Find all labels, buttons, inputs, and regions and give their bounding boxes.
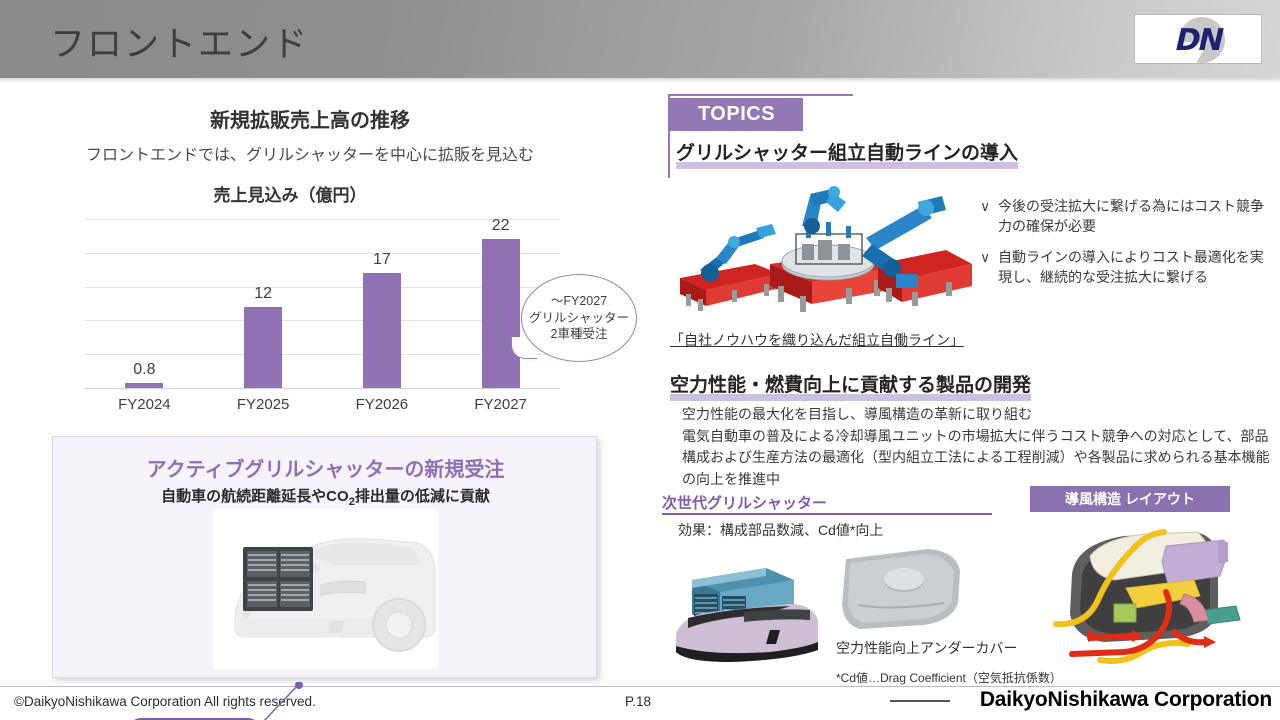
aero-body-text: 空力性能の最大化を目指し、導風構造の革新に取り組む 電気自動車の普及による冷却導… [682,404,1272,491]
chart-bar-value-label: 0.8 [104,361,184,379]
footer-page-number: P.18 [625,694,651,709]
layout-badge: 導風構造 レイアウト [1030,486,1230,512]
page-title: フロントエンド [50,16,309,67]
undercover-caption: 空力性能向上アンダーカバー [836,638,1017,658]
grille-shutter-part [243,547,313,611]
chart-callout-bubble: 〜FY2027 グリルシャッター 2車種受注 [521,274,637,362]
next-gen-shutter-image [670,546,825,666]
undercover-image [832,541,972,636]
callout-line-3: 2車種受注 [551,326,608,343]
chart-baseline [85,388,560,389]
slide-header: フロントエンド DN [0,0,1280,78]
chart-axis-title: 売上見込み（億円） [0,181,580,206]
chart-x-axis-labels: FY2024FY2025FY2026FY2027 [85,396,560,413]
section-heading-aero: 空力性能・燃費向上に貢献する製品の開発 [670,370,1031,398]
cd-footnote: *Cd値…Drag Coefficient（空気抵抗係数） [836,669,1062,686]
footer-brand-line [890,700,950,702]
header-shadow [0,78,1280,83]
footer-divider [0,686,1280,687]
chart-bar [482,239,520,388]
check-icon: ∨ [980,247,998,288]
left-column: 新規拡販売上高の推移 フロントエンドでは、グリルシャッターを中心に拡販を見込む … [0,86,640,686]
panel-subtitle-post: 排出量の低減に貢献 [355,488,490,505]
bullet-item: ∨自動ラインの導入によりコスト最適化を実現し、継続的な受注拡大に繋げる [980,247,1270,288]
panel-subtitle-pre: 自動車の航続距離延長やCO [161,488,349,505]
chart-bar-value-label: 12 [223,285,303,303]
chart-bar-slot: 0.8 [85,219,204,388]
section-heading-auto-line: グリルシャッター組立自動ラインの導入 [676,138,1018,166]
panel-subtitle: 自動車の航続距離延長やCO2排出量の低減に貢献 [53,485,598,508]
check-icon: ∨ [980,196,998,237]
next-gen-shutter-rule [662,513,992,515]
bullet-text: 自動ラインの導入によりコスト最適化を実現し、継続的な受注拡大に繋げる [998,247,1270,288]
airflow-layout-image [1028,518,1272,668]
chart-bars: 0.8121722 [85,219,560,388]
bullet-text: 今後の受注拡大に繋げる為にはコスト競争力の確保が必要 [998,196,1270,237]
bullet-item: ∨今後の受注拡大に繋げる為にはコスト競争力の確保が必要 [980,196,1270,237]
chart-bar-slot: 12 [204,219,323,388]
topics-rule [670,94,853,96]
right-column: TOPICS グリルシャッター組立自動ラインの導入 [650,86,1280,686]
aero-body-line-2: 電気自動車の普及による冷却導風ユニットの市場拡大に伴うコスト競争への対応として、… [682,426,1272,491]
sales-bar-chart: 0.8121722 [85,219,560,389]
chart-x-label: FY2025 [204,396,323,413]
suv-illustration-svg [213,509,438,669]
aero-body-line-1: 空力性能の最大化を目指し、導風構造の革新に取り組む [682,404,1272,426]
chart-bar [244,307,282,388]
chart-bar-value-label: 22 [461,217,541,235]
chart-bar-slot: 17 [323,219,442,388]
chart-bar [125,383,163,388]
topics-badge: TOPICS [670,98,803,131]
auto-line-bullet-list: ∨今後の受注拡大に繋げる為にはコスト競争力の確保が必要∨自動ラインの導入によりコ… [980,196,1270,297]
next-gen-shutter-heading: 次世代グリルシャッター [662,492,827,513]
effect-text: 効果：構成部品数減、Cd値*向上 [678,520,883,540]
airflow-layout-svg [1028,518,1272,668]
auto-line-caption: 「自社ノウハウを織り込んだ組立自働ライン」 [670,330,964,350]
suv-grille-shutter-image [213,509,438,669]
chart-bar [363,273,401,388]
chart-x-label: FY2024 [85,396,204,413]
company-logo: DN [1134,14,1262,64]
robot-assembly-line-image [660,178,980,323]
callout-line-2: グリルシャッター [529,310,629,327]
callout-line-1: 〜FY2027 [551,293,607,310]
undercover-svg [832,541,972,636]
robot-line-svg [660,178,980,323]
chart-subtitle: フロントエンドでは、グリルシャッターを中心に拡販を見込む [0,141,620,165]
active-grille-shutter-panel: アクティブグリルシャッターの新規受注 自動車の航続距離延長やCO2排出量の低減に… [52,436,597,678]
pill-leader-line [253,682,303,720]
chart-bar-value-label: 17 [342,251,422,269]
logo-dn-text: DN [1134,15,1262,64]
shutter-module-svg [670,546,825,666]
panel-title: アクティブグリルシャッターの新規受注 [53,453,598,482]
chart-x-label: FY2026 [323,396,442,413]
footer-brand: DaikyoNishikawa Corporation [980,688,1272,712]
chart-x-label: FY2027 [441,396,560,413]
chart-title: 新規拡販売上高の推移 [0,104,620,133]
